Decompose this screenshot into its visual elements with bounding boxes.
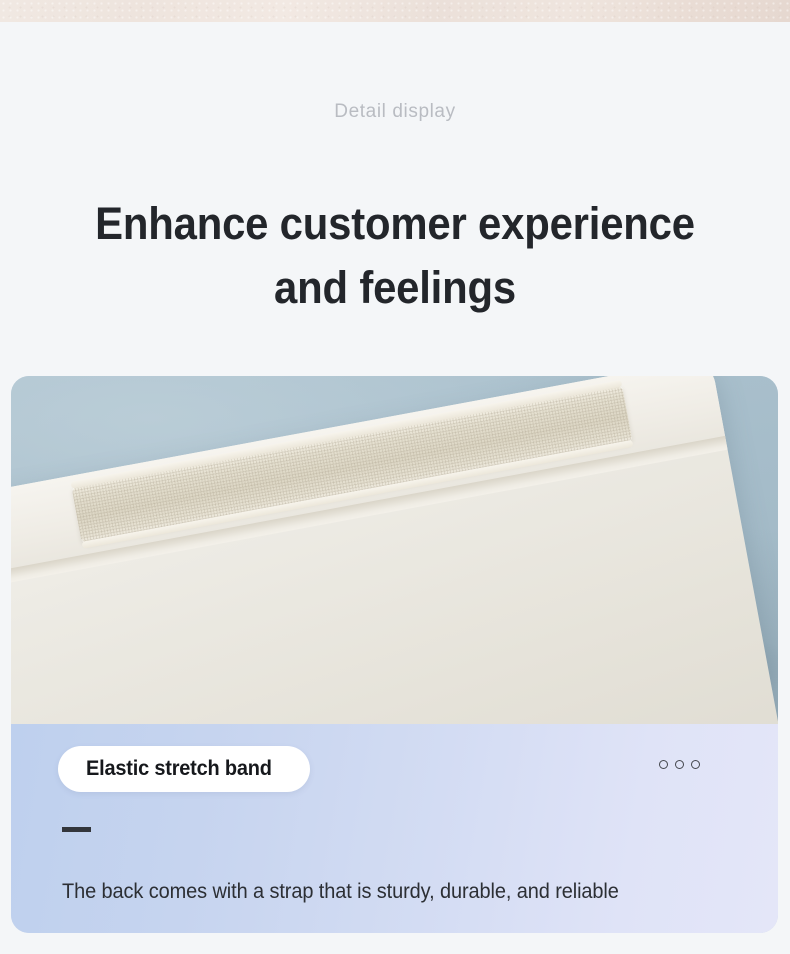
page-title-line-2: and feelings xyxy=(28,256,763,320)
feature-badge[interactable]: Elastic stretch band xyxy=(58,746,310,792)
section-divider xyxy=(62,827,91,832)
product-photo xyxy=(11,376,778,724)
dot-icon-1 xyxy=(659,760,668,769)
three-dots-icon[interactable] xyxy=(659,760,700,769)
page-title: Enhance customer experience and feelings xyxy=(28,192,763,320)
feature-badge-label: Elastic stretch band xyxy=(86,757,272,781)
product-detail-card: Elastic stretch band The back comes with… xyxy=(11,376,778,933)
dot-icon-3 xyxy=(691,760,700,769)
top-texture-strip xyxy=(0,0,790,22)
feature-caption: The back comes with a strap that is stur… xyxy=(62,880,619,904)
page-title-line-1: Enhance customer experience xyxy=(95,198,695,249)
dot-icon-2 xyxy=(675,760,684,769)
eyebrow-label: Detail display xyxy=(0,101,790,123)
